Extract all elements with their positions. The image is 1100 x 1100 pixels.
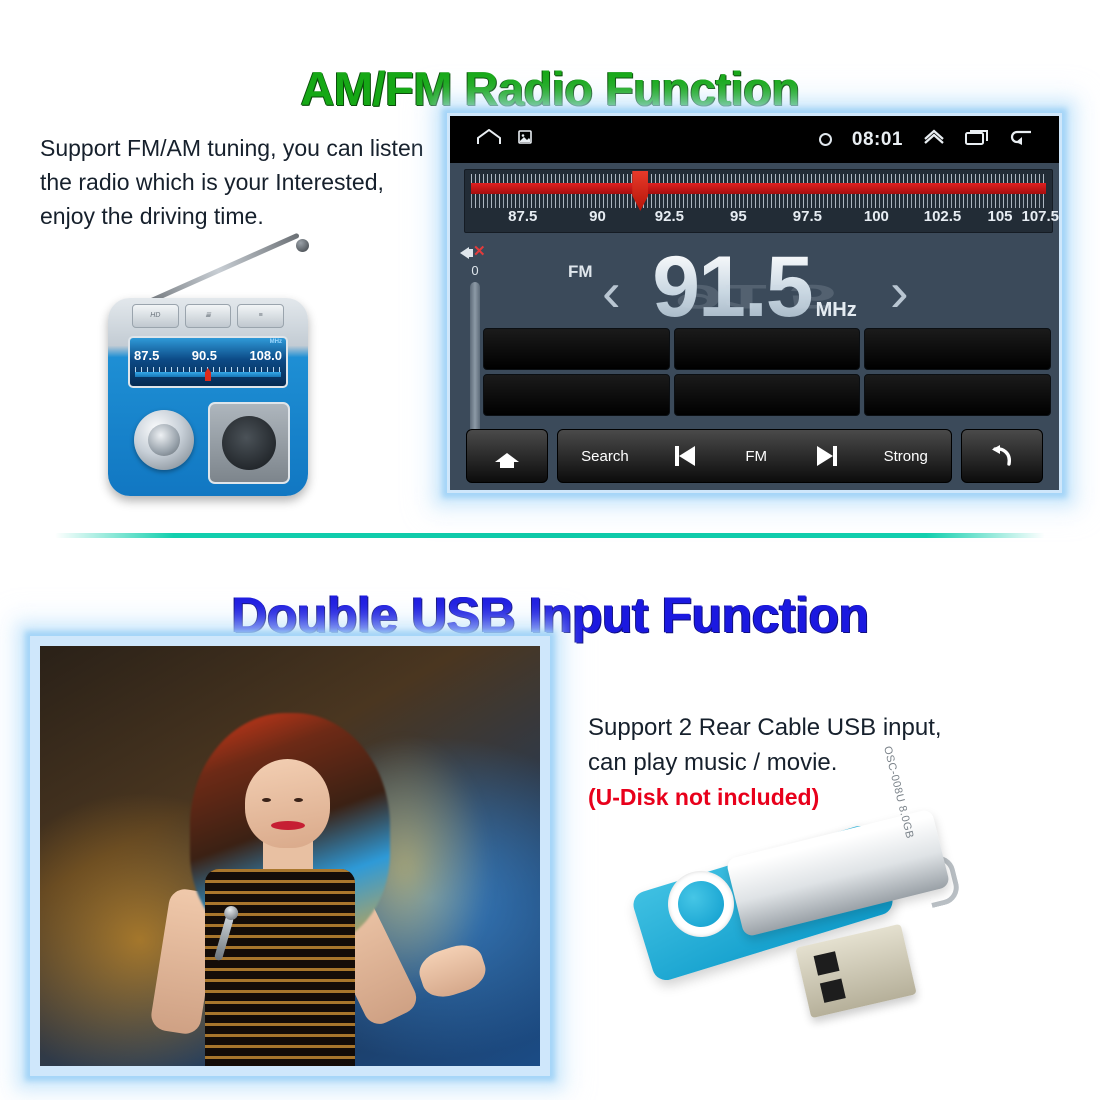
preset-slot[interactable] — [483, 374, 670, 416]
singer-face — [245, 759, 330, 847]
chevron-up-icon[interactable] — [923, 129, 945, 150]
tuner-label: 102.5 — [924, 208, 962, 225]
radio-dial-display: MHz 87.5 90.5 108.0 — [128, 336, 288, 388]
status-dot-icon — [819, 133, 832, 146]
radio-top-button: ≣ — [185, 304, 232, 328]
radio-section-title: AM/FM Radio Function — [0, 61, 1100, 116]
tuner-ticks-lower — [471, 194, 1046, 208]
previous-track-icon[interactable] — [675, 446, 699, 466]
preset-slot[interactable] — [864, 328, 1051, 370]
radio-tuning-knob — [134, 410, 194, 470]
tuner-label: 90 — [589, 208, 606, 225]
radio-top-button: HD — [132, 304, 179, 328]
back-icon[interactable] — [1009, 128, 1033, 151]
band-button[interactable]: FM — [745, 448, 767, 465]
recents-icon[interactable] — [965, 128, 989, 151]
status-time: 08:01 — [852, 129, 903, 151]
back-button[interactable] — [961, 429, 1043, 483]
usb-connector — [795, 924, 916, 1018]
tuner-red-band — [471, 183, 1046, 194]
frequency-display: 91.5MHz — [450, 238, 1059, 337]
search-button[interactable]: Search — [581, 448, 629, 465]
radio-speaker-grille — [208, 402, 290, 484]
screenshot-icon[interactable] — [518, 130, 532, 149]
next-track-icon[interactable] — [813, 446, 837, 466]
tuner-label: 95 — [730, 208, 747, 225]
tuner-label: 100 — [864, 208, 889, 225]
radio-dial-mid: 90.5 — [192, 348, 217, 363]
preset-slot[interactable] — [674, 374, 861, 416]
tuner-label: 105 — [987, 208, 1012, 225]
tuner-label: 87.5 — [508, 208, 537, 225]
radio-dial-unit: MHz — [270, 339, 282, 345]
strong-button[interactable]: Strong — [884, 448, 928, 465]
preset-slot[interactable] — [674, 328, 861, 370]
radio-body: HD≣≡ MHz 87.5 90.5 108.0 — [108, 298, 308, 496]
frequency-value: 91.5 — [652, 239, 811, 335]
tuner-label: 92.5 — [655, 208, 684, 225]
usb-section-title: Double USB Input Function — [0, 586, 1100, 644]
home-button-icon — [495, 445, 519, 467]
usb-description-line1: Support 2 Rear Cable USB input, — [588, 714, 942, 741]
tuner-label: 97.5 — [793, 208, 822, 225]
radio-dial-high: 108.0 — [249, 348, 282, 363]
radio-top-button: ≡ — [237, 304, 284, 328]
radio-top-buttons: HD≣≡ — [132, 304, 284, 328]
tuner-scale-labels: 87.59092.59597.5100102.5105107.5 — [471, 208, 1046, 230]
radio-dial-low: 87.5 — [134, 348, 159, 363]
usb-description-line2: can play music / movie. — [588, 749, 837, 776]
usb-drive-image: OSC-008U 8.0GB — [620, 795, 990, 1050]
preset-grid — [483, 328, 1051, 416]
back-button-icon — [987, 443, 1017, 469]
bottom-control-bar: Search FM Strong — [450, 426, 1059, 486]
home-icon[interactable] — [476, 129, 502, 150]
android-status-bar: 08:01 — [450, 116, 1059, 163]
head-unit-screen: 08:01 87.59092.59597.5100102.5105107.5 — [447, 113, 1062, 493]
home-button[interactable] — [466, 429, 548, 483]
singer-photo — [30, 636, 550, 1076]
radio-controls-group: Search FM Strong — [557, 429, 952, 483]
tuning-scale[interactable]: 87.59092.59597.5100102.5105107.5 — [464, 169, 1053, 233]
singer-dress — [205, 869, 355, 1066]
preset-slot[interactable] — [864, 374, 1051, 416]
head-unit-display: 08:01 87.59092.59597.5100102.5105107.5 — [450, 116, 1059, 490]
section-divider — [55, 533, 1045, 538]
frequency-unit: MHz — [816, 299, 857, 321]
singer-photo-image — [40, 646, 540, 1066]
radio-illustration: HD≣≡ MHz 87.5 90.5 108.0 — [100, 218, 325, 503]
tuner-label: 107.5 — [1021, 208, 1059, 225]
preset-slot[interactable] — [483, 328, 670, 370]
